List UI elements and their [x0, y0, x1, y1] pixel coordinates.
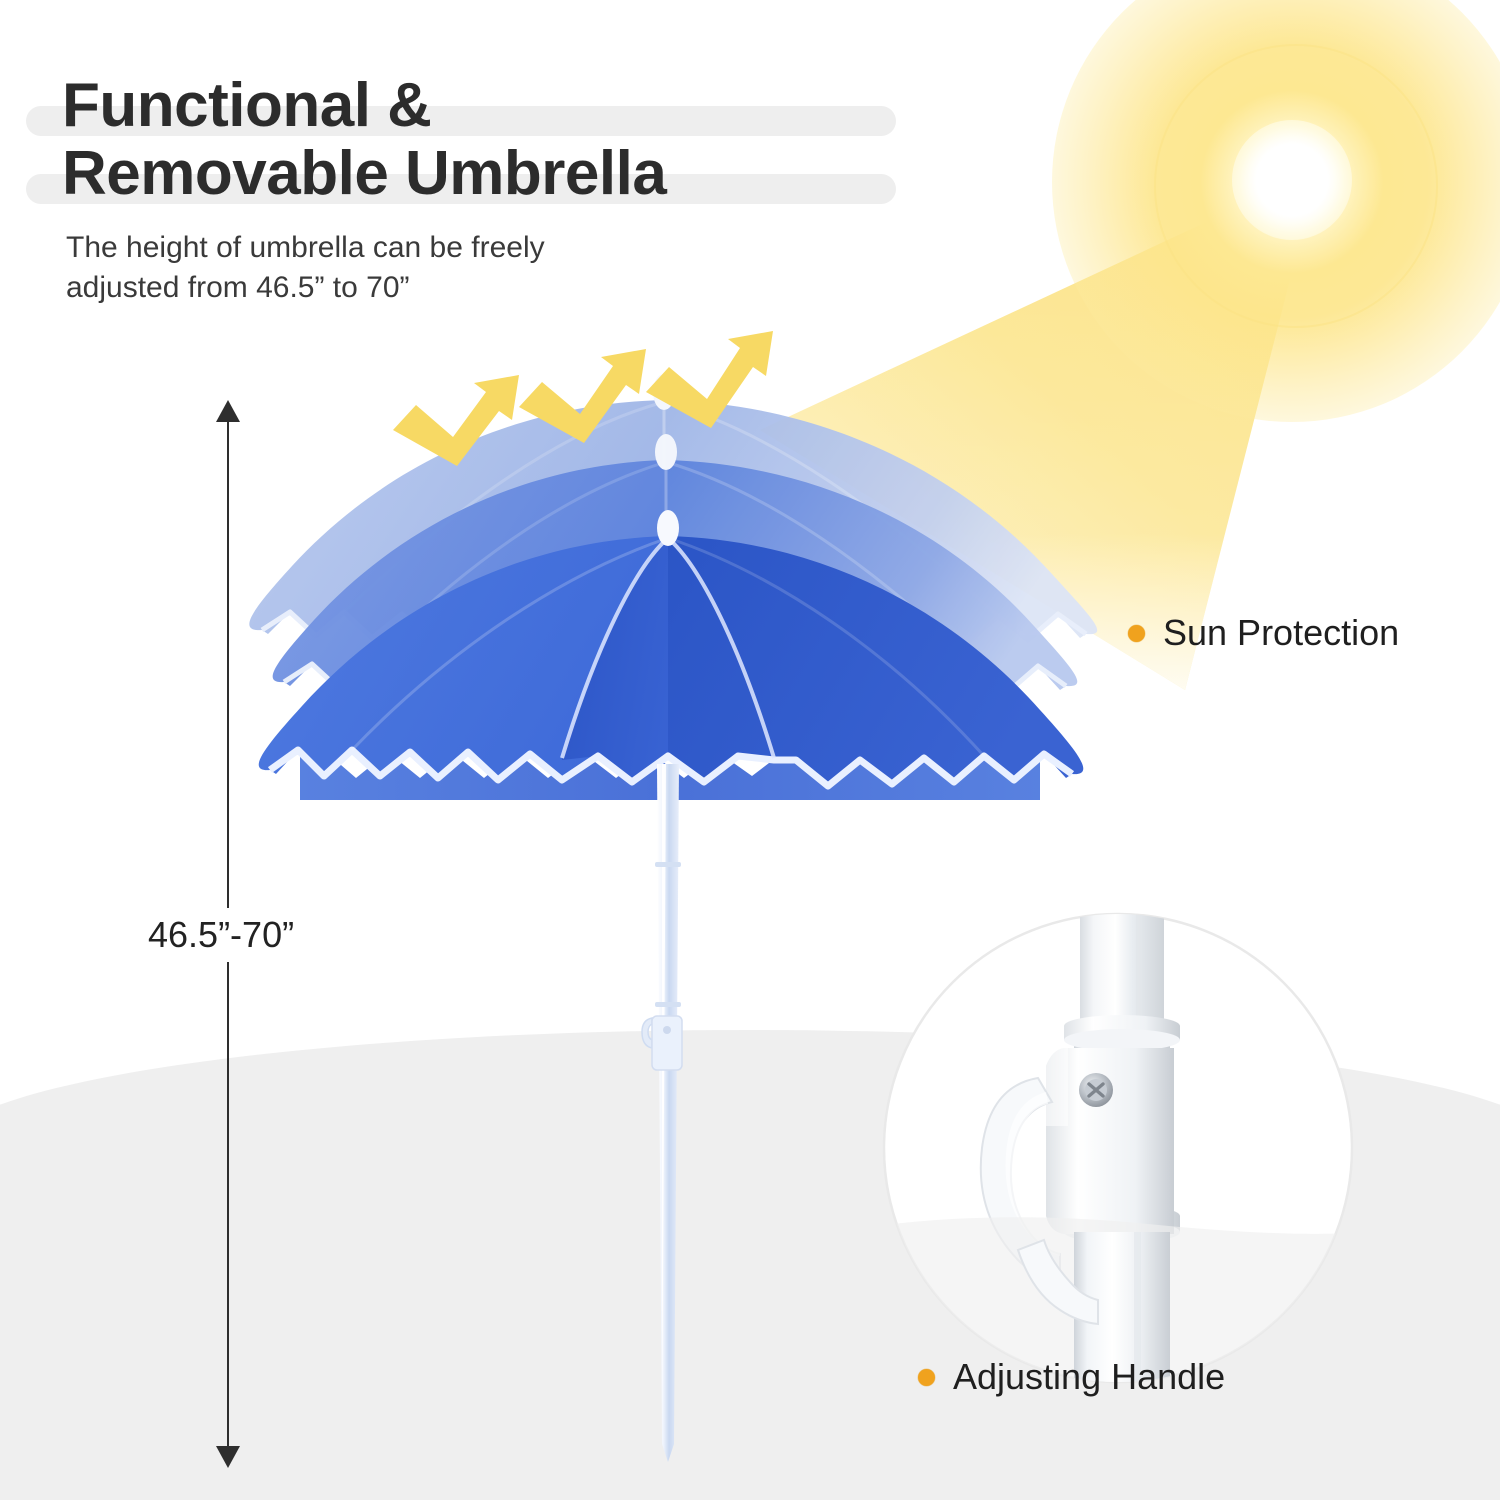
callout-label: Sun Protection: [1163, 612, 1399, 654]
infographic-canvas: Functional & Removable Umbrella The heig…: [0, 0, 1500, 1500]
dimension-label: 46.5”-70”: [138, 908, 304, 962]
title-line-2-text: Removable Umbrella: [62, 139, 666, 208]
adjusting-handle-closeup: [868, 898, 1368, 1398]
title-line-1-text: Functional &: [62, 71, 431, 140]
dimension-arrow-head-bottom: [216, 1446, 240, 1468]
callout-adjusting-handle: Adjusting Handle: [918, 1356, 1225, 1398]
bullet-icon: [1128, 625, 1145, 642]
bullet-icon: [918, 1369, 935, 1386]
callout-label: Adjusting Handle: [953, 1356, 1225, 1398]
callout-sun-protection: Sun Protection: [1128, 612, 1399, 654]
